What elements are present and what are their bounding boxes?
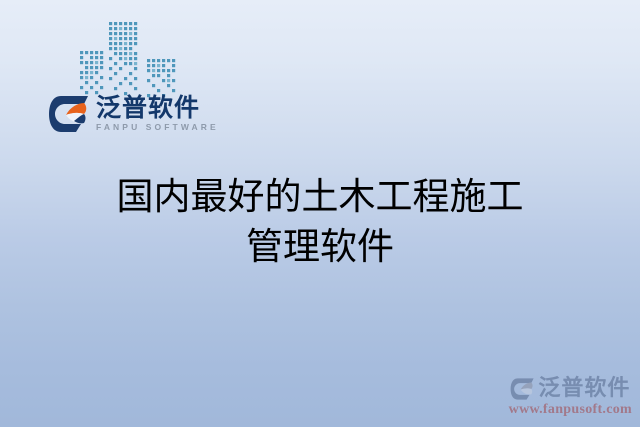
page-title-line-2: 管理软件 [0, 222, 640, 272]
fanpu-watermark-icon [510, 377, 536, 401]
brand-text-block: 泛普软件 FANPU SOFTWARE [96, 95, 219, 133]
watermark: 泛普软件 www.fanpusoft.com [509, 377, 632, 419]
slide-canvas: 泛普软件 FANPU SOFTWARE 国内最好的土木工程施工 管理软件 泛普软… [0, 0, 640, 427]
page-title-line-1: 国内最好的土木工程施工 [0, 172, 640, 222]
brand-name-en: FANPU SOFTWARE [96, 123, 219, 132]
brand-logo: 泛普软件 FANPU SOFTWARE [48, 94, 219, 134]
page-title: 国内最好的土木工程施工 管理软件 [0, 172, 640, 272]
watermark-logo-row: 泛普软件 [509, 377, 632, 401]
fanpu-hexagon-swoosh-icon [48, 94, 92, 134]
pixelated-city-skyline-icon [78, 18, 193, 100]
brand-name-cn: 泛普软件 [96, 95, 219, 121]
watermark-url: www.fanpusoft.com [509, 402, 632, 419]
watermark-name-cn: 泛普软件 [538, 378, 630, 400]
